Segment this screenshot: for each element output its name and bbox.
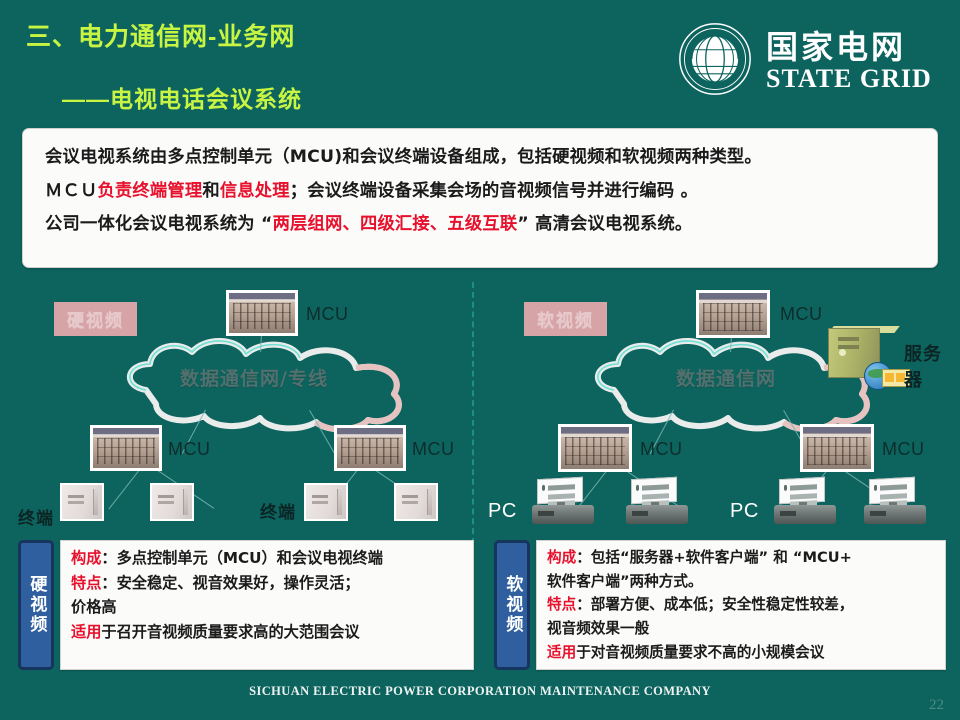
hard-video-callout-tab: 硬视频 — [18, 540, 54, 670]
page-subtitle: ——电视电话会议系统 — [62, 80, 302, 114]
footer-company-name: SICHUAN ELECTRIC POWER CORPORATION MAINT… — [0, 684, 960, 699]
terminal-device-1 — [60, 483, 104, 521]
callout-right-composition-text: ：包括“服务器+软件客户端” 和 “MCU+ — [576, 549, 852, 566]
mcu-chassis — [93, 428, 159, 468]
logo-chinese-text: 国家电网 — [766, 22, 906, 68]
terminal-label-right: 终端 — [260, 498, 296, 523]
callout-right-line-2: 软件客户端”两种方式。 — [547, 572, 937, 593]
statement-box: 会议电视系统由多点控制单元（MCU)和会议终端设备组成，包括硬视频和软视频两种类… — [22, 128, 938, 268]
terminal-body — [62, 485, 102, 519]
statement-line-3-suffix: ” 高清会议电视系统。 — [517, 214, 692, 234]
hard-video-callout: 硬视频 构成：多点控制单元（MCU）和会议电视终端 特点：安全稳定、视音效果好，… — [18, 540, 474, 670]
pc-case — [532, 505, 594, 524]
mcu-right-label-r: MCU — [882, 439, 925, 460]
mcu-chassis — [561, 427, 629, 469]
statement-highlight-info-processing: 信息处理 — [220, 181, 290, 201]
terminal-device-2 — [150, 483, 194, 521]
callout-right-features-label: 特点 — [547, 596, 576, 613]
statement-mcu-label: ＭＣＵ — [45, 181, 97, 201]
callout-right-line-5: 适用于对音视频质量要求不高的小规模会议 — [547, 643, 937, 664]
pc-monitor — [631, 477, 677, 504]
statement-line-2: ＭＣＵ负责终端管理和信息处理；会议终端设备采集会场的音视频信号并进行编码 。 — [45, 179, 917, 204]
terminal-led — [427, 501, 432, 508]
mcu-chassis — [699, 293, 767, 335]
mcu-device-top-right-diagram — [696, 290, 770, 338]
logo-english-text: STATE GRID — [766, 64, 932, 94]
statement-highlight-architecture: 两层组网、四级汇接、五级互联 — [273, 214, 518, 234]
callout-left-features-text: ：安全稳定、视音效果好，操作灵活； — [101, 574, 359, 592]
callout-left-features-label: 特点 — [71, 574, 101, 592]
pc-case — [626, 505, 688, 524]
statement-conjunction: 和 — [202, 181, 219, 201]
soft-video-callout-tab-label: 软视频 — [502, 575, 523, 635]
callout-left-line-3: 价格高 — [71, 597, 465, 619]
pc-case — [774, 505, 836, 524]
soft-video-callout: 软视频 构成：包括“服务器+软件客户端” 和 “MCU+ 软件客户端”两种方式。… — [494, 540, 946, 670]
callout-left-line-4: 适用于召开音视频质量要求高的大范围会议 — [71, 622, 465, 644]
mcu-chassis — [337, 428, 403, 468]
pc-monitor — [537, 477, 583, 504]
statement-line-1-text: 会议电视系统由多点控制单元（MCU)和会议终端设备组成，包括硬视频和软视频两种类… — [45, 147, 762, 167]
state-grid-logo: 国家电网 STATE GRID — [678, 20, 946, 100]
pc-device-2 — [626, 478, 688, 524]
terminal-body — [306, 485, 346, 519]
mcu-device-left — [90, 425, 162, 471]
statement-highlight-terminal-mgmt: 负责终端管理 — [97, 181, 202, 201]
mcu-left-label-r: MCU — [640, 439, 683, 460]
callout-right-features-text: ：部署方便、成本低；安全性稳定性较差， — [576, 596, 853, 613]
mcu-chassis — [229, 293, 295, 333]
state-grid-globe-icon — [678, 22, 752, 96]
server-drive-slots — [838, 337, 859, 341]
pc-monitor — [779, 477, 825, 504]
server-label: 服务器 — [904, 340, 954, 392]
mcu-device-right — [334, 425, 406, 471]
pc-monitor — [869, 477, 915, 504]
callout-left-usage-label: 适用 — [71, 623, 101, 641]
callout-left-composition-text: ：多点控制单元（MCU）和会议电视终端 — [101, 549, 383, 567]
terminal-body — [152, 485, 192, 519]
link-left-mcu-terminal-1 — [108, 469, 140, 509]
pc-case — [864, 505, 926, 524]
mcu-top-label-right: MCU — [780, 304, 823, 325]
pc-device-1 — [532, 478, 594, 524]
server-device — [820, 326, 904, 388]
soft-video-diagram: 软视频 数据通信网 MCU 服务器 — [484, 282, 954, 544]
statement-line-1: 会议电视系统由多点控制单元（MCU)和会议终端设备组成，包括硬视频和软视频两种类… — [45, 145, 917, 170]
mcu-top-label-left: MCU — [306, 304, 349, 325]
pc-label-left: PC — [488, 500, 517, 523]
slide-root: 三、电力通信网-业务网 ——电视电话会议系统 国家电网 STATE GRID 会… — [0, 0, 960, 720]
pc-device-3 — [774, 478, 836, 524]
terminal-led — [93, 501, 98, 508]
mcu-chassis — [803, 427, 871, 469]
callout-right-line-3: 特点：部署方便、成本低；安全性稳定性较差， — [547, 595, 937, 616]
callout-right-composition-label: 构成 — [547, 549, 576, 566]
terminal-led — [337, 501, 342, 508]
page-number: 22 — [929, 697, 944, 714]
mcu-device-left-r — [558, 424, 632, 472]
callout-right-line-4: 视音频效果一般 — [547, 619, 937, 640]
hard-video-diagram: 硬视频 数据通信网/专线 MCU MCU MCU — [10, 282, 472, 544]
cloud-label-left: 数据通信网/专线 — [180, 364, 328, 391]
callout-left-line-2: 特点：安全稳定、视音效果好，操作灵活； — [71, 573, 465, 595]
server-power-led — [839, 349, 846, 356]
statement-line-3-prefix: 公司一体化会议电视系统为 “ — [45, 214, 273, 234]
mcu-left-label: MCU — [168, 439, 211, 460]
terminal-body — [396, 485, 436, 519]
callout-right-usage-text: 于对音视频质量要求不高的小规模会议 — [576, 644, 824, 661]
soft-video-callout-panel: 构成：包括“服务器+软件客户端” 和 “MCU+ 软件客户端”两种方式。 特点：… — [536, 540, 946, 670]
callout-left-line-1: 构成：多点控制单元（MCU）和会议电视终端 — [71, 548, 465, 570]
callout-right-usage-label: 适用 — [547, 644, 576, 661]
cloud-label-right: 数据通信网 — [676, 364, 776, 391]
pc-device-4 — [864, 478, 926, 524]
section-divider — [472, 282, 474, 544]
page-title: 三、电力通信网-业务网 — [26, 17, 295, 53]
hard-video-badge: 硬视频 — [54, 302, 137, 336]
terminal-label-left: 终端 — [18, 504, 54, 529]
callout-left-usage-text: 于召开音视频质量要求高的大范围会议 — [101, 623, 359, 641]
mcu-right-label: MCU — [412, 439, 455, 460]
mcu-device-right-r — [800, 424, 874, 472]
hard-video-callout-panel: 构成：多点控制单元（MCU）和会议电视终端 特点：安全稳定、视音效果好，操作灵活… — [60, 540, 474, 670]
terminal-led — [183, 501, 188, 508]
callout-right-line-1: 构成：包括“服务器+软件客户端” 和 “MCU+ — [547, 548, 937, 569]
statement-line-3: 公司一体化会议电视系统为 “两层组网、四级汇接、五级互联” 高清会议电视系统。 — [45, 212, 917, 237]
soft-video-callout-tab: 软视频 — [494, 540, 530, 670]
hard-video-callout-tab-label: 硬视频 — [26, 575, 47, 635]
terminal-device-4 — [394, 483, 438, 521]
soft-video-badge: 软视频 — [524, 302, 607, 336]
mcu-device-top-left-diagram — [226, 290, 298, 336]
callout-left-composition-label: 构成 — [71, 549, 101, 567]
statement-line-2-rest: ；会议终端设备采集会场的音视频信号并进行编码 。 — [290, 181, 698, 201]
terminal-device-3 — [304, 483, 348, 521]
pc-label-right: PC — [730, 500, 759, 523]
